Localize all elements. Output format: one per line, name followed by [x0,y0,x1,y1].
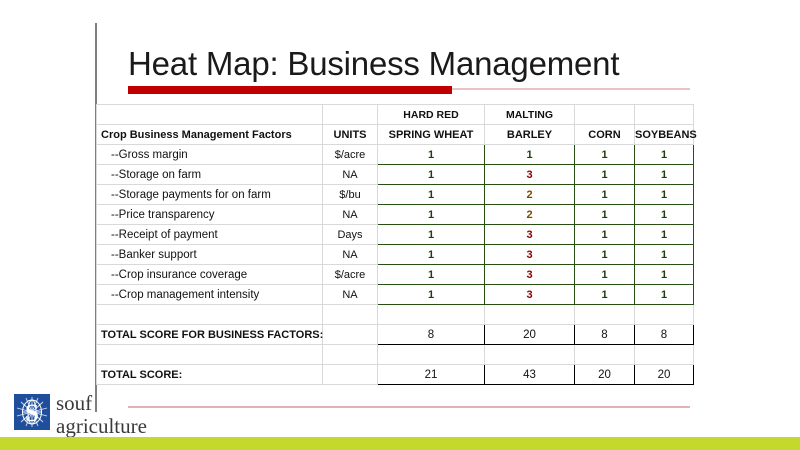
heatmap-cell: 1 [378,205,485,225]
heatmap-cell: 2 [485,185,575,205]
totals-value: 43 [485,365,575,385]
header-top-cell-0 [97,105,323,125]
heatmap-cell: 1 [635,145,694,165]
factor-label: --Crop management intensity [97,285,323,305]
heatmap-cell: 1 [378,285,485,305]
spacer-cell [323,345,378,365]
heatmap-cell: 3 [485,165,575,185]
factor-label: --Receipt of payment [97,225,323,245]
logo-wordmark: souf agriculture [56,392,226,438]
heat-map-table: HARD REDMALTINGCrop Business Management … [96,104,694,385]
totals-value: 8 [378,325,485,345]
factor-label: --Banker support [97,245,323,265]
units-label: $/acre [323,145,378,165]
heatmap-cell: 1 [378,265,485,285]
heatmap-cell: 1 [378,245,485,265]
heat-map-table-body: HARD REDMALTINGCrop Business Management … [97,105,694,385]
heatmap-cell: 1 [635,225,694,245]
column-header-0: Crop Business Management Factors [97,125,323,145]
page-title: Heat Map: Business Management [128,42,688,86]
svg-text:S: S [25,400,39,427]
totals-row: TOTAL SCORE FOR BUSINESS FACTORS:82088 [97,325,694,345]
heatmap-cell: 1 [575,185,635,205]
units-label: $/acre [323,265,378,285]
heatmap-cell: 1 [575,265,635,285]
factor-label: --Crop insurance coverage [97,265,323,285]
heatmap-cell: 3 [485,225,575,245]
factor-label: --Price transparency [97,205,323,225]
spacer-cell [97,345,323,365]
spacer-row [97,345,694,365]
table-row: --Crop insurance coverage$/acre1311 [97,265,694,285]
heatmap-cell: 1 [378,225,485,245]
spacer-cell [485,345,575,365]
heatmap-cell: 1 [378,145,485,165]
heatmap-cell: 1 [635,265,694,285]
title-underline-accent [128,86,452,94]
header-top-cell-4 [575,105,635,125]
footer-color-band [0,437,800,450]
factor-label: --Storage payments for on farm [97,185,323,205]
heatmap-cell: 1 [485,145,575,165]
heatmap-cell: 2 [485,205,575,225]
logo-wordmark-line2: agriculture [56,415,226,438]
spacer-cell [575,305,635,325]
heatmap-cell: 1 [575,165,635,185]
heatmap-cell: 1 [635,245,694,265]
spacer-cell [323,305,378,325]
spacer-cell [485,305,575,325]
column-header-2: SPRING WHEAT [378,125,485,145]
heatmap-cell: 1 [378,185,485,205]
table-row: --Storage payments for on farm$/bu1211 [97,185,694,205]
column-header-5: SOYBEANS [635,125,694,145]
heatmap-cell: 1 [635,285,694,305]
totals-units-blank [323,365,378,385]
totals-label: TOTAL SCORE: [97,365,323,385]
heat-map-table-container: HARD REDMALTINGCrop Business Management … [96,104,693,385]
units-label: NA [323,245,378,265]
units-label: $/bu [323,185,378,205]
totals-value: 20 [635,365,694,385]
spacer-cell [97,305,323,325]
logo-wordmark-line1: souf [56,392,226,415]
table-row: --Receipt of paymentDays1311 [97,225,694,245]
heatmap-cell: 3 [485,245,575,265]
spacer-cell [378,305,485,325]
column-header-4: CORN [575,125,635,145]
totals-row: TOTAL SCORE:21432020 [97,365,694,385]
heatmap-cell: 1 [575,205,635,225]
totals-label: TOTAL SCORE FOR BUSINESS FACTORS: [97,325,323,345]
brand-logo: S souf agriculture [14,392,224,440]
logo-sunburst-icon: S [14,394,50,430]
factor-label: --Storage on farm [97,165,323,185]
totals-value: 21 [378,365,485,385]
heatmap-cell: 1 [575,225,635,245]
header-top-cell-3: MALTING [485,105,575,125]
heatmap-cell: 1 [575,285,635,305]
table-row: --Banker supportNA1311 [97,245,694,265]
units-label: NA [323,205,378,225]
column-header-1: UNITS [323,125,378,145]
table-row: --Price transparencyNA1211 [97,205,694,225]
heatmap-cell: 3 [485,265,575,285]
table-row: --Gross margin$/acre1111 [97,145,694,165]
heatmap-cell: 1 [575,145,635,165]
factor-label: --Gross margin [97,145,323,165]
heatmap-cell: 1 [575,245,635,265]
units-label: Days [323,225,378,245]
table-row: --Storage on farmNA1311 [97,165,694,185]
spacer-cell [575,345,635,365]
table-header-row: Crop Business Management FactorsUNITSSPR… [97,125,694,145]
totals-value: 20 [575,365,635,385]
units-label: NA [323,165,378,185]
header-top-cell-1 [323,105,378,125]
spacer-cell [635,345,694,365]
spacer-cell [635,305,694,325]
heatmap-cell: 1 [635,185,694,205]
spacer-cell [378,345,485,365]
table-row: --Crop management intensityNA1311 [97,285,694,305]
heatmap-cell: 1 [635,165,694,185]
totals-value: 8 [635,325,694,345]
header-top-cell-2: HARD RED [378,105,485,125]
header-top-cell-5 [635,105,694,125]
heatmap-cell: 1 [635,205,694,225]
totals-units-blank [323,325,378,345]
column-header-3: BARLEY [485,125,575,145]
slide-canvas: Heat Map: Business Management HARD REDMA… [0,0,800,450]
spacer-row [97,305,694,325]
title-underline-thin [452,88,690,90]
totals-value: 20 [485,325,575,345]
units-label: NA [323,285,378,305]
totals-value: 8 [575,325,635,345]
table-header-top-row: HARD REDMALTING [97,105,694,125]
heatmap-cell: 1 [378,165,485,185]
heatmap-cell: 3 [485,285,575,305]
